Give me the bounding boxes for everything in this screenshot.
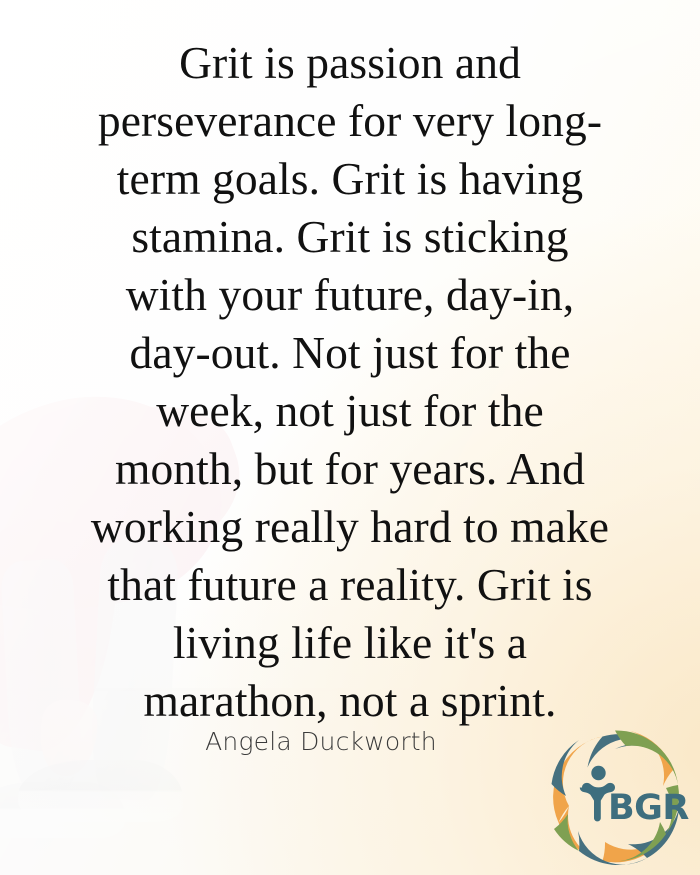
quote-text: Grit is passion and perseverance for ver…	[0, 34, 700, 730]
quote-line: term goals. Grit is having	[34, 150, 666, 208]
quote-line: Grit is passion and	[34, 34, 666, 92]
quote-line: month, but for years. And	[34, 440, 666, 498]
quote-card: Grit is passion and perseverance for ver…	[0, 0, 700, 875]
quote-line: that future a reality. Grit is	[34, 556, 666, 614]
quote-line: day-out. Not just for the	[34, 324, 666, 382]
quote-line: perseverance for very long-	[34, 92, 666, 150]
quote-line: stamina. Grit is sticking	[34, 208, 666, 266]
quote-line: week, not just for the	[34, 382, 666, 440]
logo-wordmark: BGR	[608, 788, 689, 828]
bgr-logo[interactable]: BGR	[542, 722, 690, 870]
quote-line: living life like it's a	[34, 614, 666, 672]
quote-line: working really hard to make	[34, 498, 666, 556]
quote-line: with your future, day-in,	[34, 266, 666, 324]
